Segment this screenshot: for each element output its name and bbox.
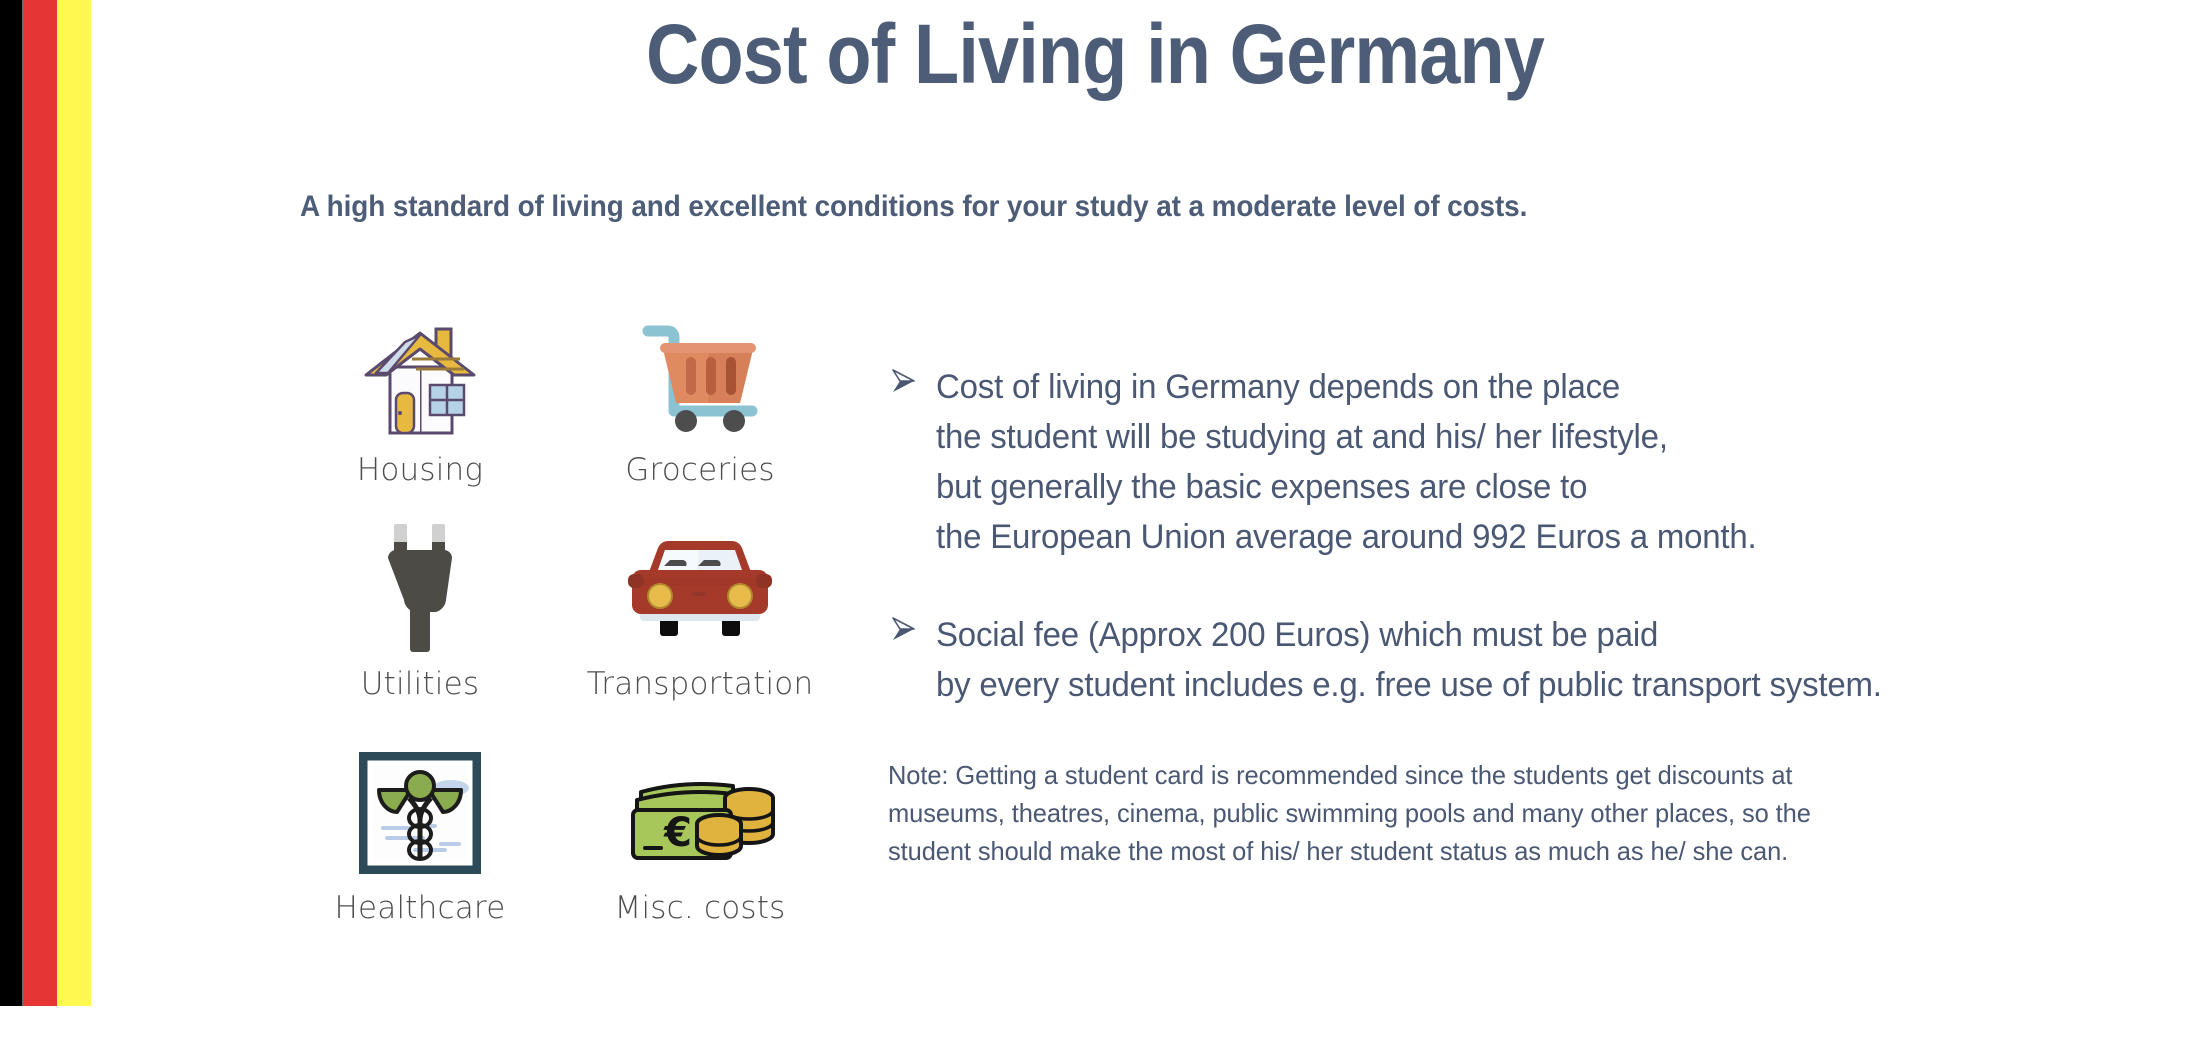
caduceus-icon [359, 738, 481, 888]
house-icon [358, 300, 482, 450]
cost-category-grid: Housing Groceries [280, 300, 840, 928]
cost-category-healthcare[interactable]: Healthcare [280, 738, 560, 928]
german-flag-stripes [0, 0, 91, 1006]
bullet-line: by every student includes e.g. free use … [936, 660, 1882, 710]
bullet-line: the student will be studying at and his/… [936, 412, 1756, 462]
svg-text:€: € [663, 810, 692, 856]
bullet-item: Social fee (Approx 200 Euros) which must… [888, 610, 2098, 710]
content-column: Cost of living in Germany depends on the… [888, 362, 2098, 870]
bullet-line: Social fee (Approx 200 Euros) which must… [936, 610, 1882, 660]
flag-stripe-black [0, 0, 22, 1006]
cost-category-housing[interactable]: Housing [280, 300, 560, 490]
bullet-text: Cost of living in Germany depends on the… [936, 362, 1756, 562]
cost-category-label: Misc. costs [615, 888, 786, 928]
note-line: museums, theatres, cinema, public swimmi… [888, 794, 2074, 832]
cost-category-groceries[interactable]: Groceries [560, 300, 840, 490]
note-text: Note: Getting a student card is recommen… [888, 756, 2074, 870]
page-title: Cost of Living in Germany [131, 6, 2058, 102]
bullet-line: Cost of living in Germany depends on the… [936, 362, 1756, 412]
cost-category-row: Housing Groceries [280, 300, 840, 490]
shopping-cart-icon [634, 300, 766, 450]
page-subtitle: A high standard of living and excellent … [300, 188, 1527, 226]
cost-category-transportation[interactable]: Transportation [560, 514, 840, 704]
flag-stripe-red [24, 0, 57, 1006]
bullet-item: Cost of living in Germany depends on the… [888, 362, 2098, 562]
cost-category-label: Housing [357, 450, 483, 490]
bullet-text: Social fee (Approx 200 Euros) which must… [936, 610, 1882, 710]
cost-category-label: Transportation [587, 664, 814, 704]
arrowhead-bullet-icon [888, 362, 936, 396]
arrowhead-bullet-icon [888, 610, 936, 644]
cost-category-label: Groceries [625, 450, 775, 490]
flag-stripe-yellow [57, 0, 91, 1006]
note-line: student should make the most of his/ her… [888, 832, 2074, 870]
bullet-line: but generally the basic expenses are clo… [936, 462, 1756, 512]
note-line: Note: Getting a student card is recommen… [888, 756, 2074, 794]
cost-category-row: Utilities [280, 514, 840, 704]
cost-category-row: Healthcare € [280, 738, 840, 928]
cost-category-label: Healthcare [335, 888, 506, 928]
cost-category-misc[interactable]: € Misc. costs [560, 738, 840, 928]
cost-category-utilities[interactable]: Utilities [280, 514, 560, 704]
car-icon [626, 514, 774, 664]
power-plug-icon [368, 514, 472, 664]
euro-money-icon: € [625, 738, 775, 888]
cost-category-label: Utilities [361, 664, 479, 704]
bullet-line: the European Union average around 992 Eu… [936, 512, 1756, 562]
